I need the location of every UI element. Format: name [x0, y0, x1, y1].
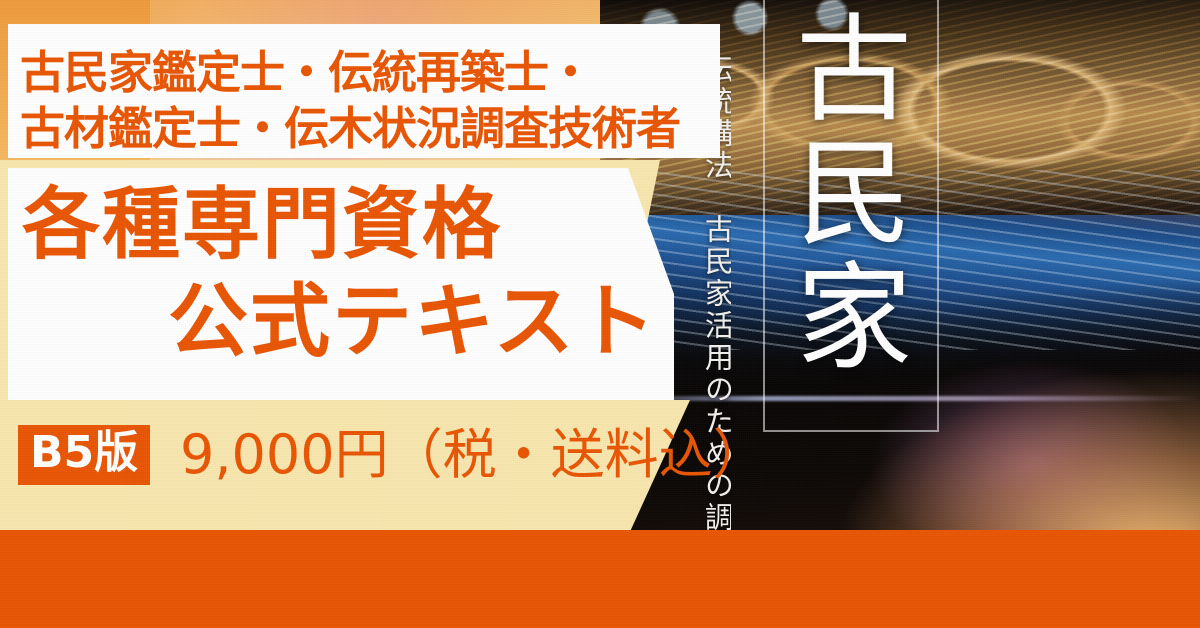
promo-banner: 伝統構法 古民家活用のための調査と再生の 古民家 古民家鑑定士・伝統再築士・ 古…: [0, 0, 1200, 628]
book-cover-title: 古民家: [792, 8, 908, 380]
qualifications-line-2: 古材鑑定士・伝木状況調査技術者: [20, 92, 680, 157]
main-title-line-1: 各種専門資格: [22, 186, 502, 264]
main-title-line-2: 公式テキスト: [168, 282, 658, 362]
price-text: 9,000円（税・送料込）: [180, 428, 767, 482]
format-badge: B5版: [18, 425, 150, 485]
cta-bar[interactable]: 詳細・ご購入はこちら: [0, 530, 1200, 628]
